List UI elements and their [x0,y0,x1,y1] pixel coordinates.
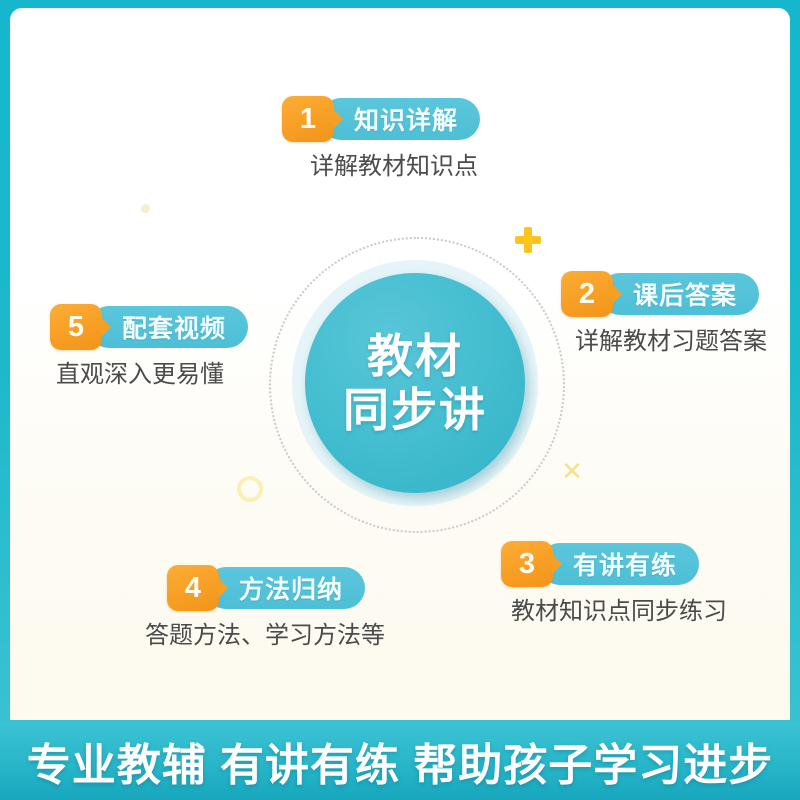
feature-5-subtitle: 直观深入更易懂 [56,360,248,390]
feature-item-4: 4 方法归纳 答题方法、学习方法等 [167,565,385,651]
feature-5-number-badge: 5 [50,304,102,350]
feature-4-number-badge: 4 [167,565,219,611]
feature-3-subtitle: 教材知识点同步练习 [511,597,727,627]
dot-icon [141,204,150,213]
bottom-banner: 专业教辅 有讲有练 帮助孩子学习进步 [0,722,800,800]
feature-2-head: 2 课后答案 [561,271,759,317]
feature-5-title: 配套视频 [88,306,248,348]
feature-2-title: 课后答案 [599,273,759,315]
hub-center-circle: 教材 同步讲 [305,273,525,493]
promo-poster: ✕ 教材 同步讲 1 知识详解 详解教材知识点 2 课后答案 详解教材习题答案 [0,0,800,800]
feature-1-title: 知识详解 [320,98,480,140]
hub-title-line-1: 教材 [367,329,463,383]
x-icon: ✕ [561,460,583,482]
hub-title-line-2: 同步讲 [343,383,487,437]
feature-item-1: 1 知识详解 详解教材知识点 [282,96,480,182]
plus-icon [515,227,541,253]
feature-1-head: 1 知识详解 [282,96,480,142]
ring-icon [237,476,263,502]
feature-4-head: 4 方法归纳 [167,565,365,611]
feature-2-subtitle: 详解教材习题答案 [575,327,767,357]
feature-3-head: 3 有讲有练 [501,541,699,587]
feature-5-head: 5 配套视频 [50,304,248,350]
feature-item-3: 3 有讲有练 教材知识点同步练习 [501,541,727,627]
feature-1-subtitle: 详解教材知识点 [310,152,480,182]
feature-3-title: 有讲有练 [539,543,699,585]
feature-4-subtitle: 答题方法、学习方法等 [145,621,385,651]
feature-2-number-badge: 2 [561,271,613,317]
feature-item-2: 2 课后答案 详解教材习题答案 [561,271,767,357]
feature-1-number-badge: 1 [282,96,334,142]
feature-3-number-badge: 3 [501,541,553,587]
poster-canvas: ✕ 教材 同步讲 1 知识详解 详解教材知识点 2 课后答案 详解教材习题答案 [10,8,790,720]
feature-item-5: 5 配套视频 直观深入更易懂 [50,304,248,390]
feature-4-title: 方法归纳 [205,567,365,609]
bottom-banner-text: 专业教辅 有讲有练 帮助孩子学习进步 [27,729,773,793]
